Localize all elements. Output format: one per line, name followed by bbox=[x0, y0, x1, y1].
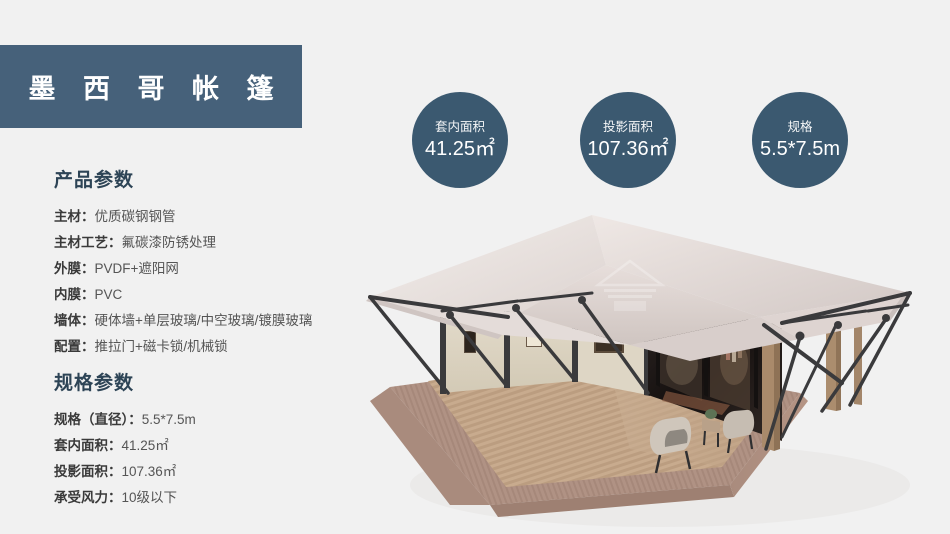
badge-value: 107.36㎡ bbox=[587, 139, 668, 159]
param-label: 投影面积： bbox=[54, 464, 122, 479]
param-value: 推拉门+磁卡锁/机械锁 bbox=[95, 339, 228, 354]
param-row: 套内面积：41.25㎡ bbox=[54, 433, 374, 459]
param-label: 规格（直径）： bbox=[54, 412, 142, 427]
param-label: 主材： bbox=[54, 209, 95, 224]
param-row: 内膜：PVC bbox=[54, 282, 374, 308]
param-value: 10级以下 bbox=[122, 490, 178, 505]
param-value: 硬体墙+单层玻璃/中空玻璃/镀膜玻璃 bbox=[95, 313, 313, 328]
param-row: 投影面积：107.36㎡ bbox=[54, 459, 374, 485]
badge-label: 套内面积 bbox=[435, 121, 485, 134]
param-value: 107.36㎡ bbox=[122, 464, 177, 479]
param-value: PVDF+遮阳网 bbox=[95, 261, 179, 276]
param-row: 规格（直径）：5.5*7.5m bbox=[54, 407, 374, 433]
param-label: 承受风力： bbox=[54, 490, 122, 505]
param-row: 承受风力：10级以下 bbox=[54, 485, 374, 511]
param-value: PVC bbox=[95, 287, 123, 302]
param-label: 外膜： bbox=[54, 261, 95, 276]
param-value: 41.25㎡ bbox=[122, 438, 169, 453]
page-title: 墨 西 哥 帐 篷 bbox=[18, 67, 283, 106]
badge-dimensions: 规格 5.5*7.5m bbox=[752, 92, 848, 188]
badge-interior-area: 套内面积 41.25㎡ bbox=[412, 92, 508, 188]
product-spec-page: 墨 西 哥 帐 篷 产品参数 主材：优质碳钢钢管 主材工艺：氟碳漆防锈处理 外膜… bbox=[0, 0, 950, 534]
param-label: 内膜： bbox=[54, 287, 95, 302]
param-value: 优质碳钢钢管 bbox=[95, 209, 176, 224]
param-label: 主材工艺： bbox=[54, 235, 122, 250]
size-parameters-heading: 规格参数 bbox=[54, 368, 374, 395]
param-label: 配置： bbox=[54, 339, 95, 354]
title-banner: 墨 西 哥 帐 篷 bbox=[0, 45, 302, 128]
badge-value: 41.25㎡ bbox=[425, 139, 495, 159]
param-row: 外膜：PVDF+遮阳网 bbox=[54, 256, 374, 282]
badge-projected-area: 投影面积 107.36㎡ bbox=[580, 92, 676, 188]
param-label: 墙体： bbox=[54, 313, 95, 328]
size-parameters-section: 规格参数 规格（直径）：5.5*7.5m 套内面积：41.25㎡ 投影面积：10… bbox=[54, 368, 374, 511]
badge-label: 投影面积 bbox=[603, 121, 653, 134]
product-parameters-heading: 产品参数 bbox=[54, 165, 374, 192]
product-parameters-section: 产品参数 主材：优质碳钢钢管 主材工艺：氟碳漆防锈处理 外膜：PVDF+遮阳网 … bbox=[54, 165, 374, 360]
badge-label: 规格 bbox=[787, 121, 812, 134]
param-label: 套内面积： bbox=[54, 438, 122, 453]
param-value: 5.5*7.5m bbox=[142, 412, 196, 427]
param-row: 主材：优质碳钢钢管 bbox=[54, 204, 374, 230]
badge-value: 5.5*7.5m bbox=[760, 139, 840, 159]
tent-render-image bbox=[330, 205, 950, 534]
param-row: 配置：推拉门+磁卡锁/机械锁 bbox=[54, 334, 374, 360]
param-row: 主材工艺：氟碳漆防锈处理 bbox=[54, 230, 374, 256]
param-value: 氟碳漆防锈处理 bbox=[122, 235, 217, 250]
param-row: 墙体：硬体墙+单层玻璃/中空玻璃/镀膜玻璃 bbox=[54, 308, 374, 334]
